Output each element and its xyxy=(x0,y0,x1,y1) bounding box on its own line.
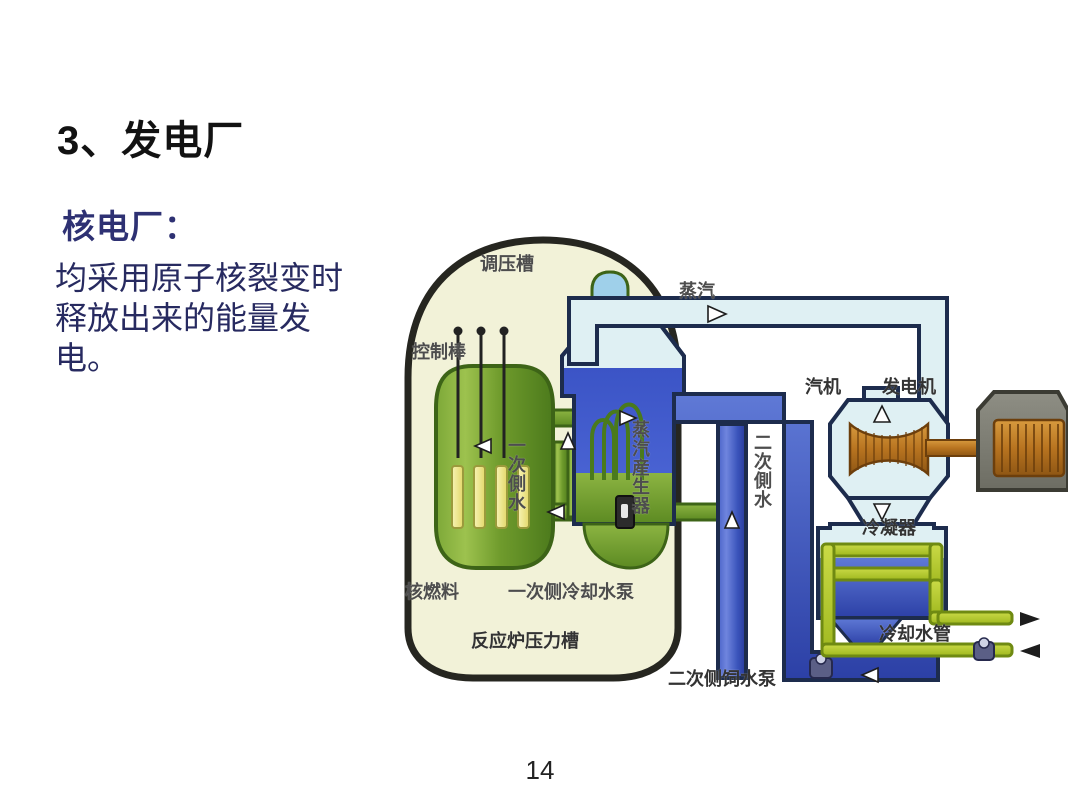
label-secondary-feedwater-pump: 二次侧饲水泵 xyxy=(668,665,776,691)
label-generator: 发电机 xyxy=(882,373,936,399)
label-turbine: 汽机 xyxy=(805,373,841,399)
slide-canvas: 3、发电厂 核电厂： 均采用原子核裂变时释放出来的能量发电。 xyxy=(0,0,1080,809)
label-cooling-water-pipe: 冷却水管 xyxy=(879,620,951,646)
reactor-pressure-vessel xyxy=(436,366,553,568)
page-title: 3、发电厂 xyxy=(57,108,244,166)
label-condenser: 冷凝器 xyxy=(862,514,916,540)
nuclear-plant-diagram: 调压槽 控制棒 蒸汽 汽机 发电机 蒸汽産生器 一次側水 二次側水 冷凝器 核燃… xyxy=(378,228,1068,703)
label-secondary-side-water: 二次側水 xyxy=(753,433,771,509)
section-subtitle: 核电厂： xyxy=(62,200,198,248)
cooling-water-valve xyxy=(974,638,994,660)
label-nuclear-fuel: 核燃料 xyxy=(405,578,459,604)
body-paragraph: 均采用原子核裂变时释放出来的能量发电。 xyxy=(55,258,355,378)
page-number: 14 xyxy=(0,755,1080,786)
label-steam: 蒸汽 xyxy=(679,277,715,303)
secondary-feedwater-pump xyxy=(810,654,832,678)
label-primary-coolant-pump: 一次侧冷却水泵 xyxy=(508,578,634,604)
cooling-water-outlet-arrows xyxy=(1020,612,1040,658)
generator xyxy=(978,392,1068,490)
label-pressurizer: 调压槽 xyxy=(480,250,534,276)
label-steam-generator: 蒸汽産生器 xyxy=(631,420,649,515)
label-control-rods: 控制棒 xyxy=(412,338,466,364)
label-reactor-pressure-vessel: 反应炉压力槽 xyxy=(471,627,579,653)
label-primary-side-water: 一次側水 xyxy=(507,436,525,512)
